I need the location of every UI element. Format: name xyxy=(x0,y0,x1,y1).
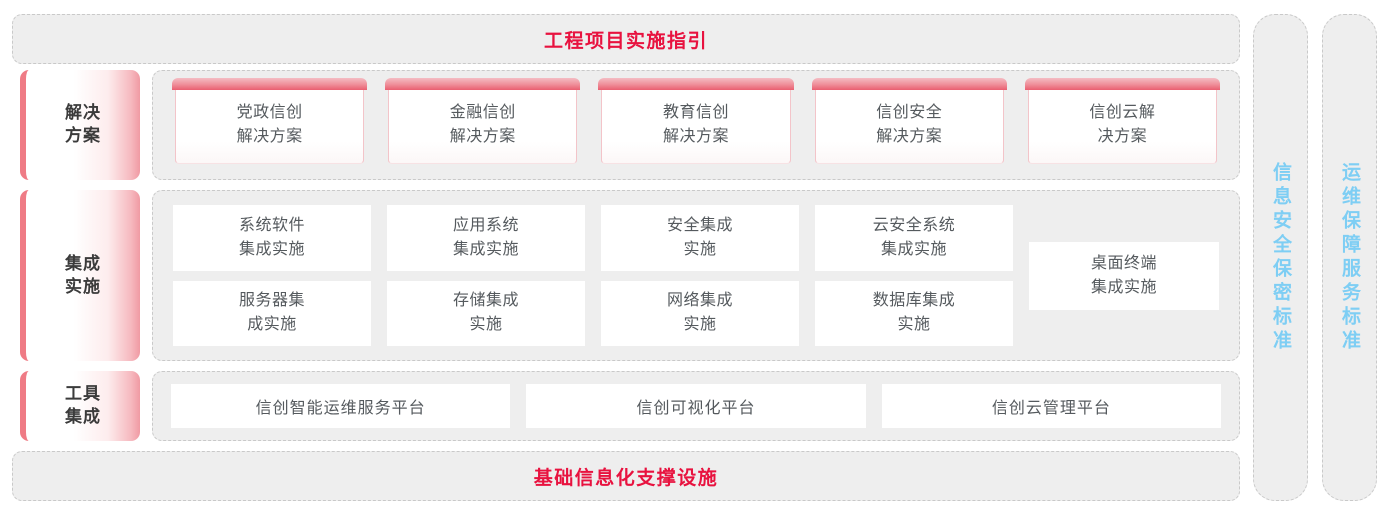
implementation-guide-diagram: 工程项目实施指引 解决方案 党政信创解决方案 金融信创解决方案 教育信创解决方案… xyxy=(0,0,1390,515)
side-standard-security-label: 信息安全保密标准 xyxy=(1271,162,1290,354)
integration-card-label: 数据库集成实施 xyxy=(873,289,956,337)
category-label-tools-text: 工具集成 xyxy=(65,383,101,429)
footer-title: 基础信息化支撑设施 xyxy=(534,463,719,490)
integration-card[interactable]: 存储集成实施 xyxy=(387,281,585,347)
top-banner: 工程项目实施指引 xyxy=(12,14,1240,64)
integration-card[interactable]: 应用系统集成实施 xyxy=(387,205,585,271)
integration-content: 系统软件集成实施 应用系统集成实施 安全集成实施 云安全系统集成实施 服务器集成… xyxy=(153,191,1239,360)
solution-card-label: 党政信创解决方案 xyxy=(237,101,303,149)
tools-card-track: 信创智能运维服务平台 信创可视化平台 信创云管理平台 xyxy=(153,372,1239,440)
page-title: 工程项目实施指引 xyxy=(544,26,708,53)
solution-card-label: 信创云解决方案 xyxy=(1089,101,1155,149)
integration-card[interactable]: 系统软件集成实施 xyxy=(173,205,371,271)
tool-card[interactable]: 信创云管理平台 xyxy=(882,384,1221,428)
integration-card-label: 安全集成实施 xyxy=(667,214,733,262)
solution-card[interactable]: 信创云解决方案 xyxy=(1028,86,1217,164)
tools-row-panel: 信创智能运维服务平台 信创可视化平台 信创云管理平台 xyxy=(152,371,1240,441)
tool-card-label: 信创可视化平台 xyxy=(636,394,755,418)
solution-row-panel: 党政信创解决方案 金融信创解决方案 教育信创解决方案 信创安全解决方案 信创云解… xyxy=(152,70,1240,180)
integration-row-panel: 系统软件集成实施 应用系统集成实施 安全集成实施 云安全系统集成实施 服务器集成… xyxy=(152,190,1240,361)
solution-card[interactable]: 金融信创解决方案 xyxy=(388,86,577,164)
solution-card-label: 教育信创解决方案 xyxy=(663,101,729,149)
solution-card-label: 金融信创解决方案 xyxy=(450,101,516,149)
solution-card-track: 党政信创解决方案 金融信创解决方案 教育信创解决方案 信创安全解决方案 信创云解… xyxy=(153,71,1239,179)
side-standard-security: 信息安全保密标准 xyxy=(1253,14,1308,501)
integration-card[interactable]: 云安全系统集成实施 xyxy=(815,205,1013,271)
side-standard-operations-label: 运维保障服务标准 xyxy=(1340,162,1359,354)
bottom-banner: 基础信息化支撑设施 xyxy=(12,451,1240,501)
integration-card-label: 系统软件集成实施 xyxy=(239,214,305,262)
category-label-solution-text: 解决方案 xyxy=(65,102,101,148)
category-label-solution: 解决方案 xyxy=(20,70,140,180)
category-label-tools: 工具集成 xyxy=(20,371,140,441)
integration-card-label: 云安全系统集成实施 xyxy=(873,214,956,262)
integration-card-label: 存储集成实施 xyxy=(453,289,519,337)
tool-card[interactable]: 信创智能运维服务平台 xyxy=(171,384,510,428)
integration-card[interactable]: 数据库集成实施 xyxy=(815,281,1013,347)
tool-card-label: 信创智能运维服务平台 xyxy=(256,394,426,418)
integration-card-label: 应用系统集成实施 xyxy=(453,214,519,262)
integration-card-label: 网络集成实施 xyxy=(667,289,733,337)
solution-card-label: 信创安全解决方案 xyxy=(876,101,942,149)
integration-card[interactable]: 安全集成实施 xyxy=(601,205,799,271)
tool-card-label: 信创云管理平台 xyxy=(992,394,1111,418)
integration-card-grid: 系统软件集成实施 应用系统集成实施 安全集成实施 云安全系统集成实施 服务器集成… xyxy=(173,205,1013,346)
integration-card-desktop-terminal[interactable]: 桌面终端集成实施 xyxy=(1029,242,1219,310)
solution-card[interactable]: 教育信创解决方案 xyxy=(601,86,790,164)
integration-card[interactable]: 服务器集成实施 xyxy=(173,281,371,347)
side-standard-operations: 运维保障服务标准 xyxy=(1322,14,1377,501)
integration-card[interactable]: 网络集成实施 xyxy=(601,281,799,347)
category-label-integration-text: 集成实施 xyxy=(65,253,101,299)
integration-card-desktop-terminal-label: 桌面终端集成实施 xyxy=(1091,252,1157,300)
tool-card[interactable]: 信创可视化平台 xyxy=(526,384,865,428)
solution-card[interactable]: 信创安全解决方案 xyxy=(815,86,1004,164)
solution-card[interactable]: 党政信创解决方案 xyxy=(175,86,364,164)
integration-card-label: 服务器集成实施 xyxy=(239,289,305,337)
category-label-integration: 集成实施 xyxy=(20,190,140,361)
